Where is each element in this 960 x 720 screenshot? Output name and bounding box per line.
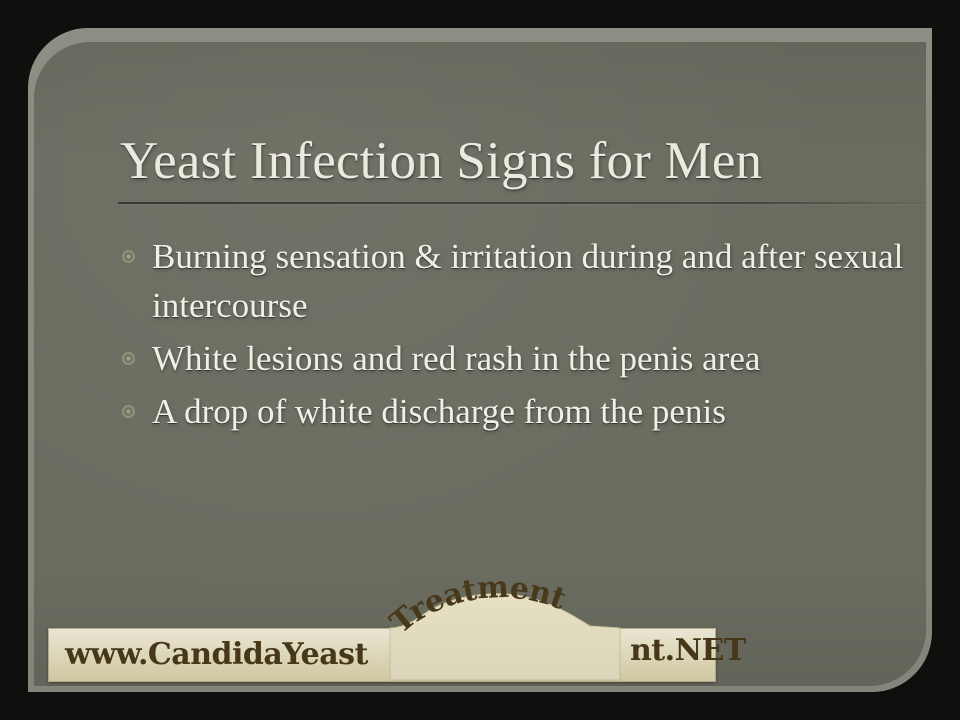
ring-bullet-icon	[122, 352, 135, 365]
watermark-url-suffix: nt.NET	[630, 633, 746, 668]
list-item: White lesions and red rash in the penis …	[120, 334, 920, 383]
list-item-label: A drop of white discharge from the penis	[152, 392, 726, 431]
bullet-list: Burning sensation & irritation during an…	[120, 232, 920, 440]
list-item: Burning sensation & irritation during an…	[120, 232, 920, 330]
slide-title: Yeast Infection Signs for Men	[120, 130, 926, 192]
ring-bullet-icon	[122, 405, 135, 418]
watermark-banner: www.CandidaYeast	[48, 628, 716, 682]
title-divider	[118, 202, 924, 204]
list-item-label: White lesions and red rash in the penis …	[152, 339, 760, 378]
list-item: A drop of white discharge from the penis	[120, 387, 920, 436]
watermark-url-text: www.CandidaYeast	[65, 634, 368, 676]
ring-bullet-icon	[122, 250, 135, 263]
presentation-slide: Yeast Infection Signs for Men Burning se…	[34, 42, 926, 686]
video-letterbox-frame: Yeast Infection Signs for Men Burning se…	[0, 0, 960, 720]
list-item-label: Burning sensation & irritation during an…	[152, 237, 903, 325]
